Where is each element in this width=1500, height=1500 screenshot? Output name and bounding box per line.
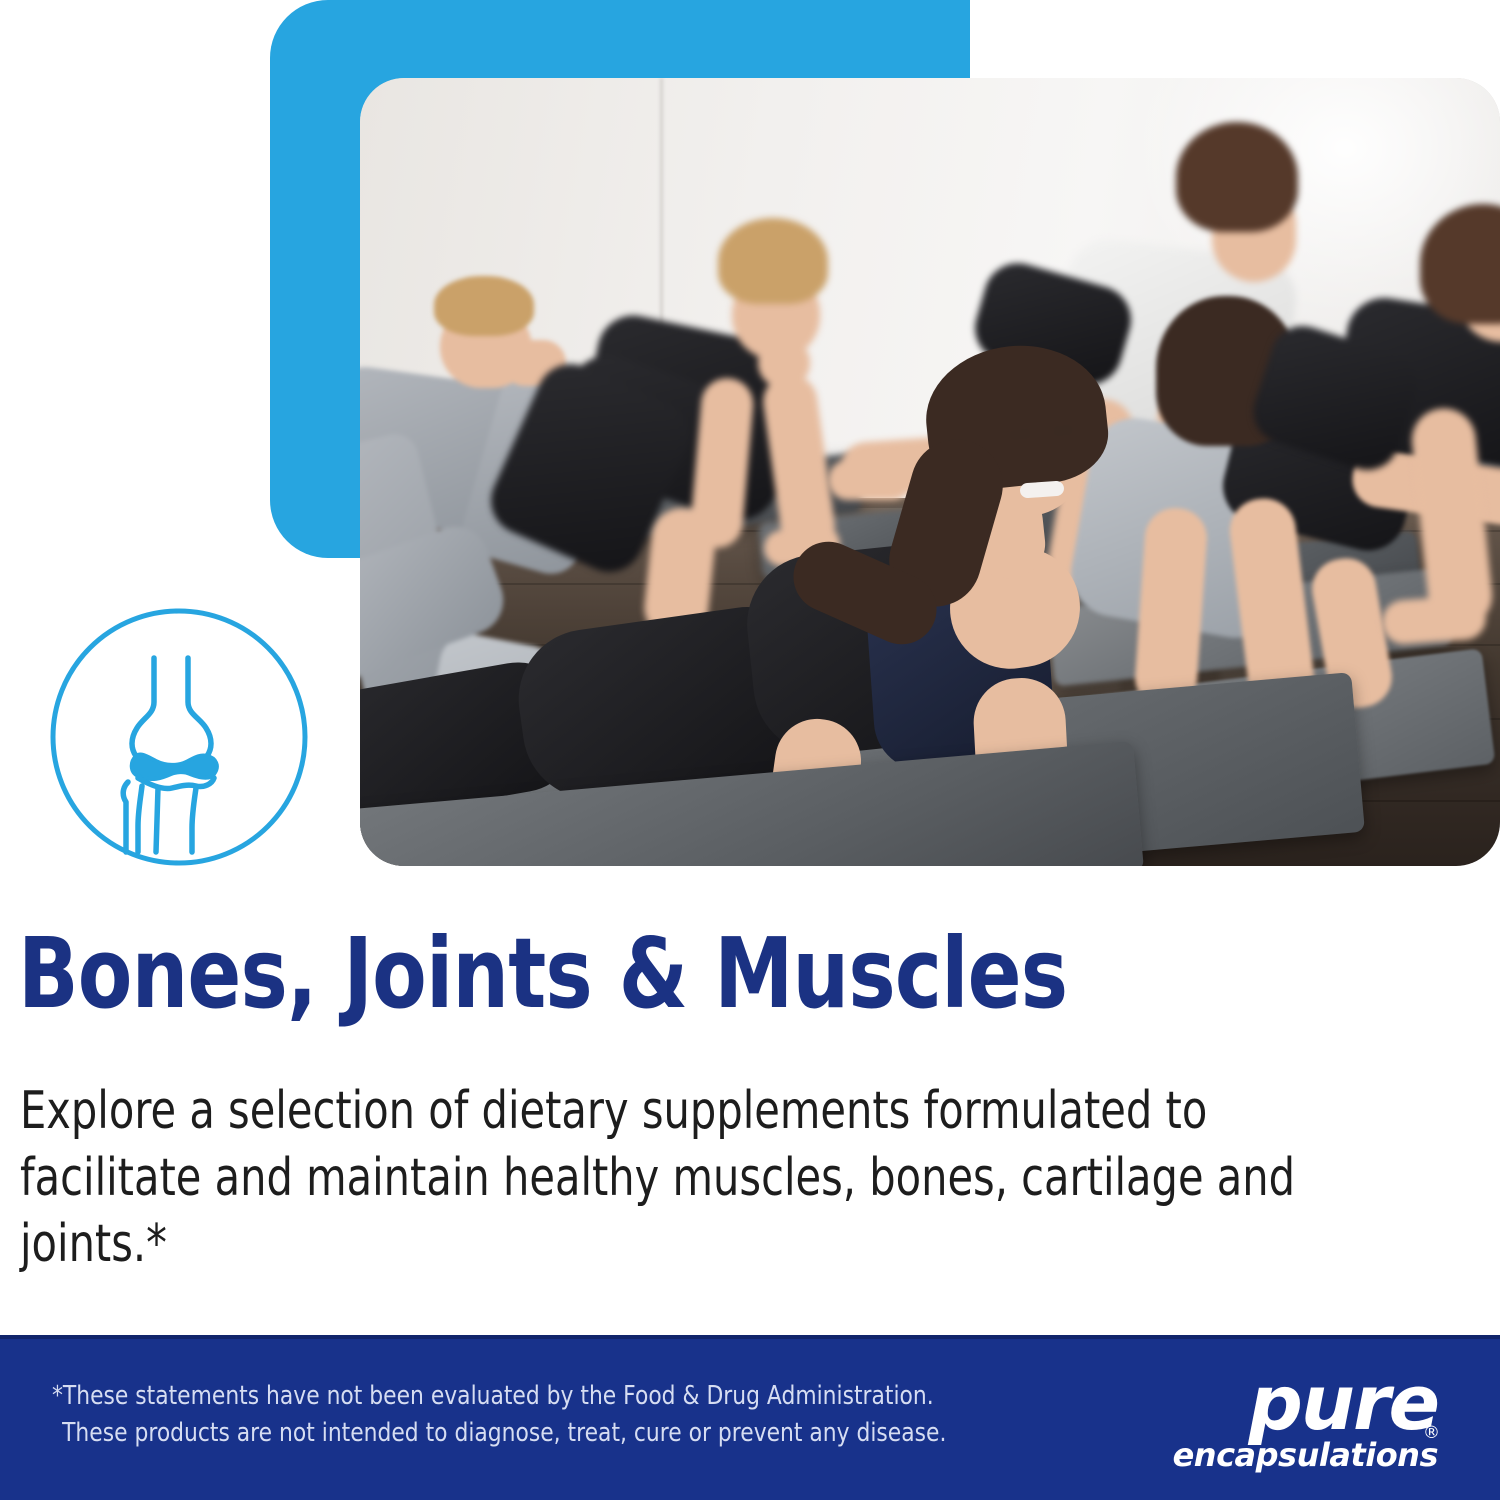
marketing-banner: Bones, Joints & Muscles Explore a select… — [0, 0, 1500, 1500]
fda-disclaimer: *These statements have not been evaluate… — [52, 1378, 1144, 1453]
registered-trademark-icon: ® — [1423, 1423, 1440, 1443]
page-title: Bones, Joints & Muscles — [18, 925, 1067, 1022]
fda-disclaimer-line-2: These products are not intended to diagn… — [52, 1415, 1144, 1452]
knee-bone-outline — [123, 658, 217, 852]
page-description: Explore a selection of dietary supplemen… — [20, 1078, 1380, 1278]
logo-wordmark-primary: pure — [1138, 1365, 1438, 1441]
icon-circle-outline — [53, 611, 305, 863]
fda-disclaimer-line-1: *These statements have not been evaluate… — [52, 1381, 934, 1411]
photo-scene — [360, 78, 1500, 866]
hero-photo — [360, 78, 1500, 866]
knee-joint-icon — [48, 606, 310, 868]
footer-bar: *These statements have not been evaluate… — [0, 1335, 1500, 1500]
logo-wordmark-secondary: encapsulations — [1138, 1439, 1438, 1471]
knee-joint-icon-svg — [48, 606, 310, 868]
pure-encapsulations-logo: pure encapsulations ® — [1138, 1365, 1438, 1483]
